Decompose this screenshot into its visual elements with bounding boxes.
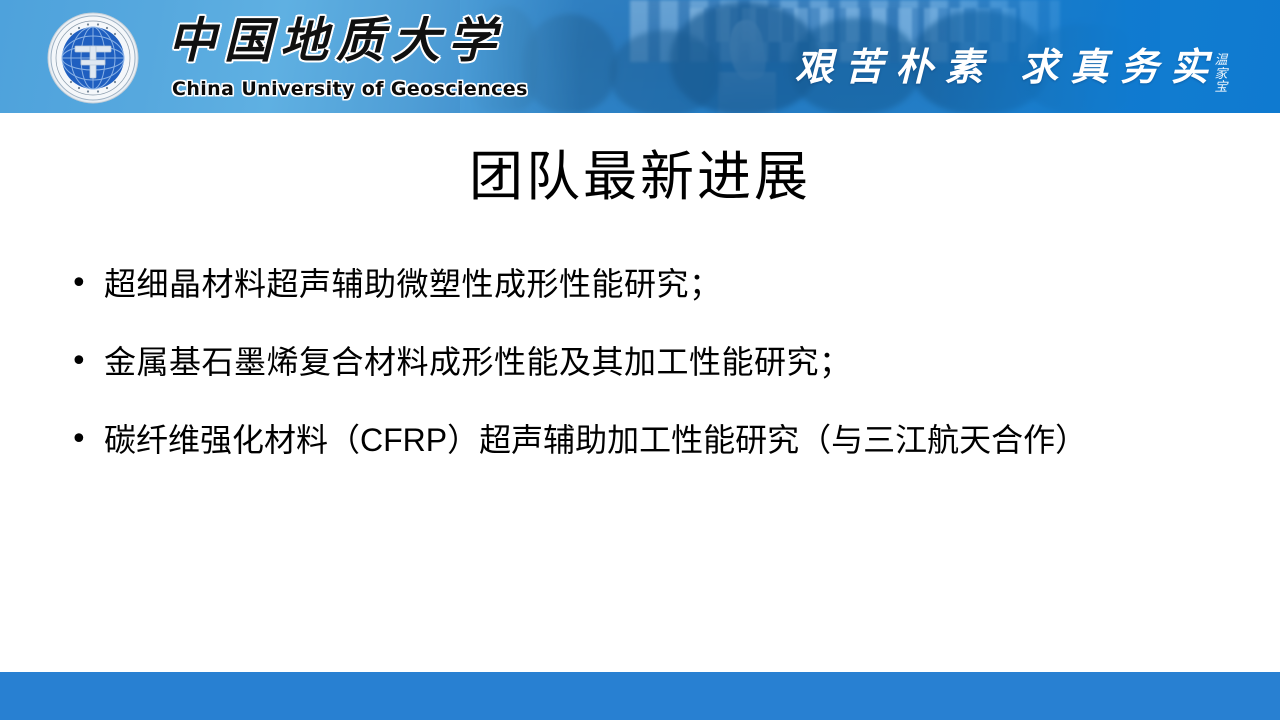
bullet-list: • 超细晶材料超声辅助微塑性成形性能研究； • 金属基石墨烯复合材料成形性能及其… (70, 258, 1250, 492)
list-item: • 碳纤维强化材料（CFRP）超声辅助加工性能研究（与三江航天合作） (70, 414, 1250, 492)
page-title: 团队最新进展 (0, 147, 1280, 206)
bullet-marker-icon: • (70, 258, 104, 310)
list-item: • 金属基石墨烯复合材料成形性能及其加工性能研究； (70, 336, 1250, 414)
footer-bar (0, 672, 1280, 720)
header-banner: 中国地质大学 China University of Geosciences 艰… (0, 0, 1280, 113)
slide-canvas: 中国地质大学 China University of Geosciences 艰… (0, 0, 1280, 720)
list-item-label: 超细晶材料超声辅助微塑性成形性能研究； (104, 258, 1250, 310)
university-motto: 艰苦朴素 求真务实 (795, 48, 1220, 86)
list-item-label: 金属基石墨烯复合材料成形性能及其加工性能研究； (104, 336, 1250, 388)
list-item: • 超细晶材料超声辅助微塑性成形性能研究； (70, 258, 1250, 336)
motto-signature: 温家宝 (1210, 54, 1232, 95)
bullet-marker-icon: • (70, 414, 104, 466)
bullet-marker-icon: • (70, 336, 104, 388)
university-name-en: China University of Geosciences (172, 80, 528, 99)
university-name-cn: 中国地质大学 (168, 17, 504, 65)
list-item-label: 碳纤维强化材料（CFRP）超声辅助加工性能研究（与三江航天合作） (104, 414, 1250, 466)
university-seal-icon (47, 12, 139, 104)
